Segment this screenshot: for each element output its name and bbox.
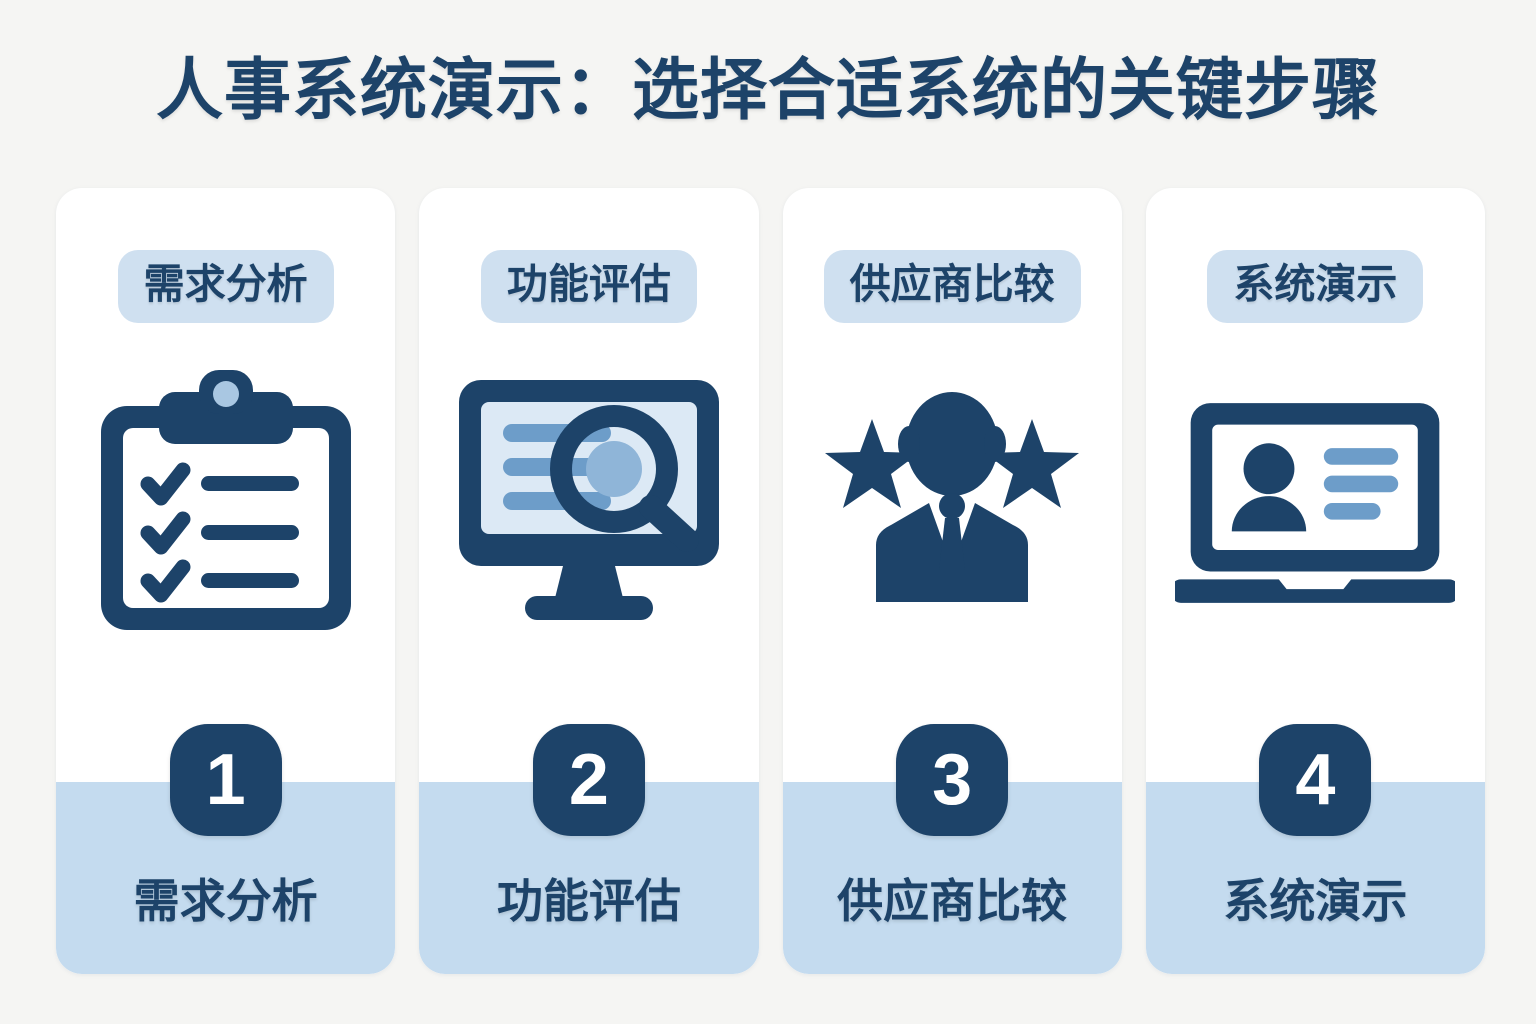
step-card-1[interactable]: 需求分析 (56, 188, 395, 974)
step-card-3[interactable]: 供应商比较 3 供应商比较 (783, 188, 1122, 974)
laptop-profile-icon (1175, 367, 1455, 637)
step-number-badge-4: 4 (1259, 724, 1371, 836)
step-badge-label-1: 需求分析 (118, 250, 334, 323)
step-number-badge-2: 2 (533, 724, 645, 836)
step-footer-label-1: 需求分析 (56, 878, 395, 924)
clipboard-checklist-icon (86, 367, 366, 637)
step-badge-label-3: 供应商比较 (824, 250, 1081, 323)
businessperson-stars-icon (812, 367, 1092, 637)
step-number-badge-3: 3 (896, 724, 1008, 836)
step-card-4[interactable]: 系统演示 4 系统演示 (1146, 188, 1485, 974)
steps-row: 需求分析 (56, 188, 1485, 974)
step-footer-label-4: 系统演示 (1146, 878, 1485, 924)
step-badge-label-4: 系统演示 (1207, 250, 1423, 323)
page-title: 人事系统演示：选择合适系统的关键步骤 (0, 52, 1536, 129)
step-number-badge-1: 1 (170, 724, 282, 836)
monitor-magnifier-icon (449, 367, 729, 637)
step-footer-label-2: 功能评估 (419, 878, 758, 924)
step-card-2[interactable]: 功能评估 2 功能评估 (419, 188, 758, 974)
step-badge-label-2: 功能评估 (481, 250, 697, 323)
step-footer-label-3: 供应商比较 (783, 878, 1122, 924)
